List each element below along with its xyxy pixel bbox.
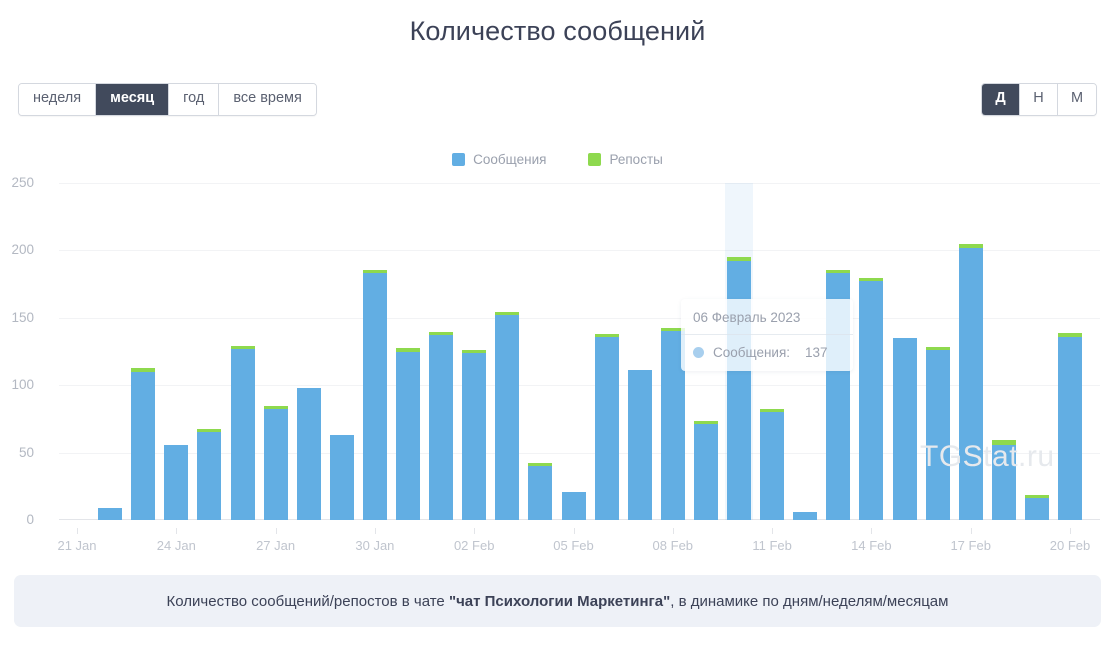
bar-segment-reposts	[363, 270, 387, 273]
x-axis-label: 20 Feb	[1050, 538, 1090, 553]
period-button-3[interactable]: все время	[219, 84, 316, 115]
gridline	[59, 318, 1100, 319]
bar-segment-reposts	[396, 348, 420, 351]
bar-segment-messages	[793, 512, 817, 520]
x-axis-tick	[77, 528, 78, 534]
chart-legend: СообщенияРепосты	[0, 152, 1115, 167]
bar-segment-reposts	[528, 463, 552, 466]
x-axis-label: 11 Feb	[752, 538, 792, 553]
period-button-2[interactable]: год	[169, 84, 219, 115]
bar-segment-reposts	[694, 421, 718, 424]
x-axis-label: 02 Feb	[454, 538, 494, 553]
bar-segment-messages	[495, 315, 519, 520]
x-axis-tick	[276, 528, 277, 534]
bar-segment-reposts	[760, 409, 784, 412]
granularity-button-2[interactable]: М	[1058, 84, 1096, 115]
legend-item-0[interactable]: Сообщения	[452, 152, 546, 167]
x-axis-label: 14 Feb	[851, 538, 891, 553]
bar-segment-reposts	[231, 346, 255, 349]
x-axis-label: 24 Jan	[157, 538, 196, 553]
period-button-1[interactable]: месяц	[96, 84, 169, 115]
page-title: Количество сообщений	[0, 16, 1115, 47]
bar-segment-messages	[396, 352, 420, 521]
bar-segment-messages	[164, 445, 188, 520]
x-axis-tick	[871, 528, 872, 534]
bar-segment-messages	[264, 409, 288, 520]
bar-segment-reposts	[462, 350, 486, 353]
series-dot-icon	[693, 347, 704, 358]
y-axis-label: 250	[0, 175, 34, 190]
bar-segment-messages	[363, 273, 387, 520]
x-axis-label: 21 Jan	[57, 538, 96, 553]
bar-segment-messages	[131, 372, 155, 520]
tooltip-series-label: Сообщения:	[713, 345, 790, 360]
bar-segment-messages	[694, 424, 718, 520]
bar-segment-reposts	[595, 334, 619, 337]
x-axis-tick	[1070, 528, 1071, 534]
bar-segment-messages	[98, 508, 122, 520]
y-axis-label: 100	[0, 377, 34, 392]
bar-segment-messages	[462, 353, 486, 520]
tooltip-date: 06 Февраль 2023	[681, 299, 853, 335]
x-axis-tick	[673, 528, 674, 534]
bar-segment-messages	[628, 370, 652, 520]
x-axis-tick	[375, 528, 376, 534]
chart-tooltip: 06 Февраль 2023 Сообщения: 137	[681, 299, 853, 371]
bar-segment-reposts	[926, 347, 950, 350]
x-axis-tick	[474, 528, 475, 534]
tooltip-series-row: Сообщения: 137	[681, 335, 853, 371]
bar-segment-messages	[330, 435, 354, 520]
chart-page: Количество сообщений неделямесяцгодвсе в…	[0, 0, 1115, 655]
y-axis-label: 0	[0, 512, 34, 527]
footer-description: Количество сообщений/репостов в чате "ча…	[167, 593, 949, 610]
bar-segment-reposts	[131, 368, 155, 372]
bar-segment-reposts	[959, 244, 983, 248]
x-axis-label: 17 Feb	[950, 538, 990, 553]
bar-segment-messages	[429, 335, 453, 520]
chart-area: 05010015020025021 Jan24 Jan27 Jan30 Jan0…	[0, 175, 1115, 555]
x-axis-tick	[574, 528, 575, 534]
legend-label: Сообщения	[473, 152, 546, 167]
x-axis-label: 27 Jan	[256, 538, 295, 553]
bar-segment-reposts	[264, 406, 288, 409]
granularity-button-0[interactable]: Д	[982, 84, 1020, 115]
bar-segment-reposts	[1025, 495, 1049, 498]
bar-segment-messages	[1058, 337, 1082, 520]
tooltip-series-value: 137	[805, 345, 828, 360]
period-selector[interactable]: неделямесяцгодвсе время	[18, 83, 317, 116]
bar-segment-reposts	[727, 257, 751, 261]
granularity-selector[interactable]: ДНМ	[981, 83, 1097, 116]
bar-segment-messages	[231, 349, 255, 520]
bar-segment-messages	[562, 492, 586, 520]
legend-label: Репосты	[609, 152, 662, 167]
bar-segment-reposts	[197, 429, 221, 432]
gridline	[59, 250, 1100, 251]
footer-prefix: Количество сообщений/репостов в чате	[167, 593, 449, 610]
x-axis-label: 08 Feb	[653, 538, 693, 553]
bar-segment-messages	[197, 432, 221, 520]
bar-segment-messages	[859, 281, 883, 520]
footer-chat-name: "чат Психологии Маркетинга"	[449, 593, 670, 610]
y-axis-label: 150	[0, 310, 34, 325]
y-axis-label: 50	[0, 445, 34, 460]
bar-segment-reposts	[429, 332, 453, 335]
bar-segment-messages	[926, 350, 950, 520]
bar-segment-messages	[959, 248, 983, 520]
bar-segment-messages	[893, 338, 917, 520]
legend-item-1[interactable]: Репосты	[588, 152, 662, 167]
bar-segment-messages	[297, 388, 321, 520]
legend-swatch-icon	[588, 153, 601, 166]
bar-segment-reposts	[826, 270, 850, 273]
bar-segment-messages	[528, 466, 552, 520]
granularity-button-1[interactable]: Н	[1020, 84, 1058, 115]
x-axis-label: 30 Jan	[355, 538, 394, 553]
footer-suffix: , в динамике по дням/неделям/месяцам	[670, 593, 948, 610]
watermark: TGStat.ru	[920, 440, 1055, 474]
bar-segment-messages	[595, 337, 619, 520]
bar-segment-messages	[760, 412, 784, 520]
x-axis-tick	[971, 528, 972, 534]
x-axis-tick	[772, 528, 773, 534]
chart-footer: Количество сообщений/репостов в чате "ча…	[14, 575, 1101, 627]
bar-segment-reposts	[1058, 333, 1082, 337]
bar-segment-messages	[1025, 498, 1049, 520]
x-axis-tick	[176, 528, 177, 534]
x-axis-label: 05 Feb	[553, 538, 593, 553]
y-axis-label: 200	[0, 242, 34, 257]
gridline	[59, 183, 1100, 184]
bar-segment-reposts	[859, 278, 883, 281]
bar-segment-reposts	[495, 312, 519, 315]
legend-swatch-icon	[452, 153, 465, 166]
period-button-0[interactable]: неделя	[19, 84, 96, 115]
